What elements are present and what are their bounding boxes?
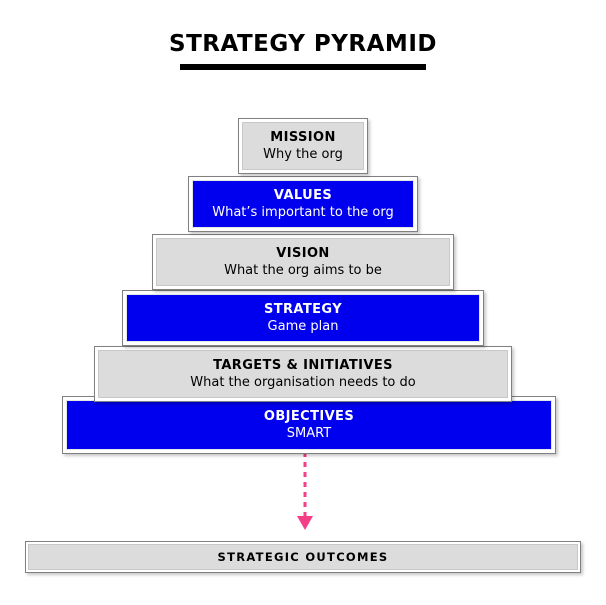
strategic-outcomes-bar[interactable]: STRATEGIC OUTCOMES <box>25 541 581 573</box>
strategic-outcomes-label: STRATEGIC OUTCOMES <box>217 550 388 564</box>
pyramid-tier-title: STRATEGY <box>264 301 342 318</box>
pyramid-tier-subtitle: What’s important to the org <box>212 204 394 222</box>
title-block: STRATEGY PYRAMID <box>0 30 606 70</box>
pyramid-tier-vision[interactable]: VISION What the org aims to be <box>152 234 454 290</box>
pyramid-tier-body: STRATEGY Game plan <box>126 294 480 342</box>
pyramid-tier-mission[interactable]: MISSION Why the org <box>238 118 368 174</box>
pyramid-tier-title: TARGETS & INITIATIVES <box>213 357 393 374</box>
pyramid-tier-title: VISION <box>276 245 329 262</box>
pyramid-tier-title: MISSION <box>270 129 335 146</box>
pyramid-tier-title: OBJECTIVES <box>264 408 354 425</box>
pyramid-tier-body: OBJECTIVES SMART <box>66 400 552 450</box>
pyramid-tier-values[interactable]: VALUES What’s important to the org <box>188 176 418 232</box>
pyramid-tier-strategy[interactable]: STRATEGY Game plan <box>122 290 484 346</box>
page-title: STRATEGY PYRAMID <box>0 30 606 58</box>
pyramid-tier-subtitle: What the org aims to be <box>224 262 382 280</box>
pyramid-tier-title: VALUES <box>274 187 332 204</box>
pyramid-tier-subtitle: SMART <box>287 425 331 443</box>
pyramid-tier-targets-initiatives[interactable]: TARGETS & INITIATIVES What the organisat… <box>94 346 512 402</box>
pyramid-tier-body: MISSION Why the org <box>242 122 364 170</box>
pyramid-tier-subtitle: What the organisation needs to do <box>190 374 415 392</box>
flow-connector <box>0 450 606 535</box>
pyramid-tier-objectives[interactable]: OBJECTIVES SMART <box>62 396 556 454</box>
pyramid-tier-subtitle: Why the org <box>263 146 343 164</box>
dashed-down-arrow-icon <box>0 450 606 535</box>
strategic-outcomes-body: STRATEGIC OUTCOMES <box>28 544 578 570</box>
pyramid-tier-subtitle: Game plan <box>268 318 339 336</box>
title-underline-rule <box>180 64 426 70</box>
pyramid-tier-body: VALUES What’s important to the org <box>192 180 414 228</box>
pyramid-tier-body: VISION What the org aims to be <box>156 238 450 286</box>
pyramid-tier-body: TARGETS & INITIATIVES What the organisat… <box>98 350 508 398</box>
